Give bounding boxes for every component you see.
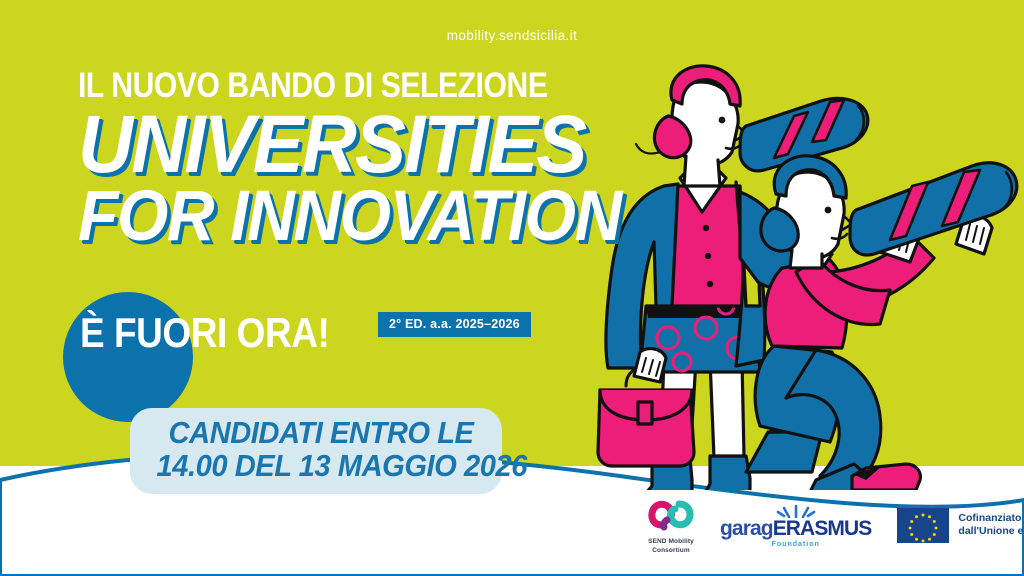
eu-logo-caption: Cofinanziato dall'Unione europea — [958, 512, 1024, 538]
send-swirl-icon — [648, 495, 694, 535]
garagerasmus-wordmark: garagERASMUS — [720, 518, 871, 539]
send-caption-line1: SEND Mobility — [648, 538, 694, 545]
deadline-line1: CANDIDATI ENTRO LE — [168, 415, 473, 450]
garagerasmus-logo: garagERASMUS Foundation — [720, 502, 871, 548]
edition-badge: 2° ED. a.a. 2025–2026 — [378, 312, 531, 337]
site-url: mobility.sendsicilia.it — [0, 28, 1024, 43]
figure-kneeling-woman — [746, 156, 1017, 490]
headline-block: IL NUOVO BANDO DI SELEZIONE UNIVERSITIES… — [78, 68, 638, 250]
eu-cofunding-logo: Cofinanziato dall'Unione europea — [897, 508, 1024, 543]
telescope-kneeling — [850, 163, 1017, 255]
deadline-line2: 14.00 DEL 13 MAGGIO 2026 — [157, 449, 486, 482]
eu-caption-line2: dall'Unione europea — [958, 525, 1024, 537]
garagerasmus-tagline: Foundation — [772, 541, 820, 548]
footer-logos: SEND Mobility Consortium garagERASMUS Fo… — [648, 492, 1024, 558]
headline-title-line2: FOR INNOVATION — [78, 184, 599, 249]
headline-title-line1: UNIVERSITIES — [78, 107, 599, 182]
send-logo-caption: SEND Mobility Consortium — [648, 538, 694, 554]
send-caption-line2: Consortium — [652, 547, 689, 554]
headline-subtitle: È FUORI ORA! — [80, 312, 329, 354]
send-mobility-consortium-logo: SEND Mobility Consortium — [648, 495, 694, 554]
headline-kicker: IL NUOVO BANDO DI SELEZIONE — [78, 68, 560, 103]
eu-flag-icon — [897, 508, 949, 543]
ger-word-part2: ERASMUS — [773, 518, 872, 539]
ger-word-part1: garag — [720, 518, 773, 539]
deadline-text: CANDIDATI ENTRO LE 14.00 DEL 13 MAGGIO 2… — [157, 416, 486, 483]
starburst-icon — [776, 502, 816, 518]
eu-caption-line1: Cofinanziato — [958, 512, 1021, 524]
poster-canvas: mobility.sendsicilia.it IL NUOVO BANDO D… — [0, 0, 1024, 576]
